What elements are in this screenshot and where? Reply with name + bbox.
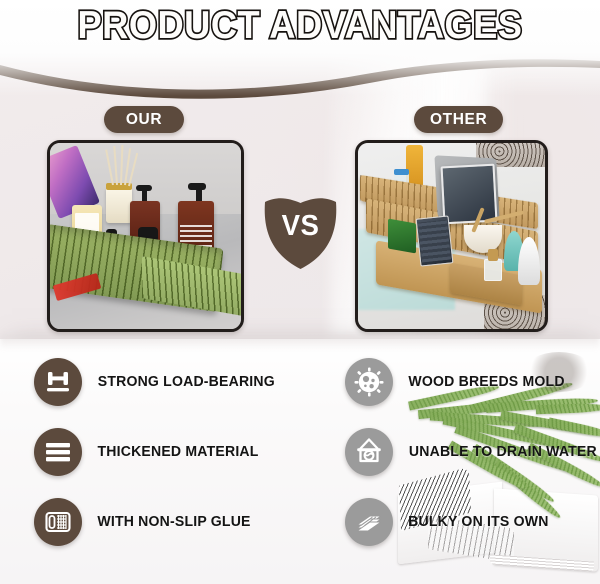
feature-our-3-label: WITH NON-SLIP GLUE xyxy=(97,514,250,530)
feature-our-2: THICKENED MATERIAL xyxy=(34,428,261,476)
mold-spore-icon xyxy=(345,358,393,406)
feature-our-1: STRONG LOAD-BEARING xyxy=(34,358,278,406)
label-other-badge: OTHER xyxy=(414,106,503,133)
our-product-photo xyxy=(47,140,244,332)
vs-badge: VS xyxy=(258,190,343,272)
load-bearing-icon xyxy=(34,358,82,406)
feature-other-1-label: WOOD BREEDS MOLD xyxy=(408,374,564,390)
vs-label: VS xyxy=(260,210,341,243)
water-basin-icon xyxy=(345,428,393,476)
feature-other-1: WOOD BREEDS MOLD xyxy=(345,358,567,406)
label-our-badge: OUR xyxy=(104,106,184,133)
feature-other-3: BULKY ON ITS OWN xyxy=(345,498,551,546)
layers-icon xyxy=(34,428,82,476)
feature-our-2-label: THICKENED MATERIAL xyxy=(97,444,258,460)
page-title: PRODUCT ADVANTAGES xyxy=(21,4,579,48)
other-product-photo xyxy=(355,140,548,332)
header-banner: PRODUCT ADVANTAGES xyxy=(0,0,600,96)
feature-our-3: WITH NON-SLIP GLUE xyxy=(34,498,253,546)
non-slip-pad-icon xyxy=(34,498,82,546)
feature-other-2-label: UNABLE TO DRAIN WATER xyxy=(409,444,597,460)
feature-our-1-label: STRONG LOAD-BEARING xyxy=(98,374,275,390)
wood-slats-icon xyxy=(345,498,393,546)
feature-other-2: UNABLE TO DRAIN WATER xyxy=(345,428,600,476)
feature-other-3-label: BULKY ON ITS OWN xyxy=(408,514,548,530)
